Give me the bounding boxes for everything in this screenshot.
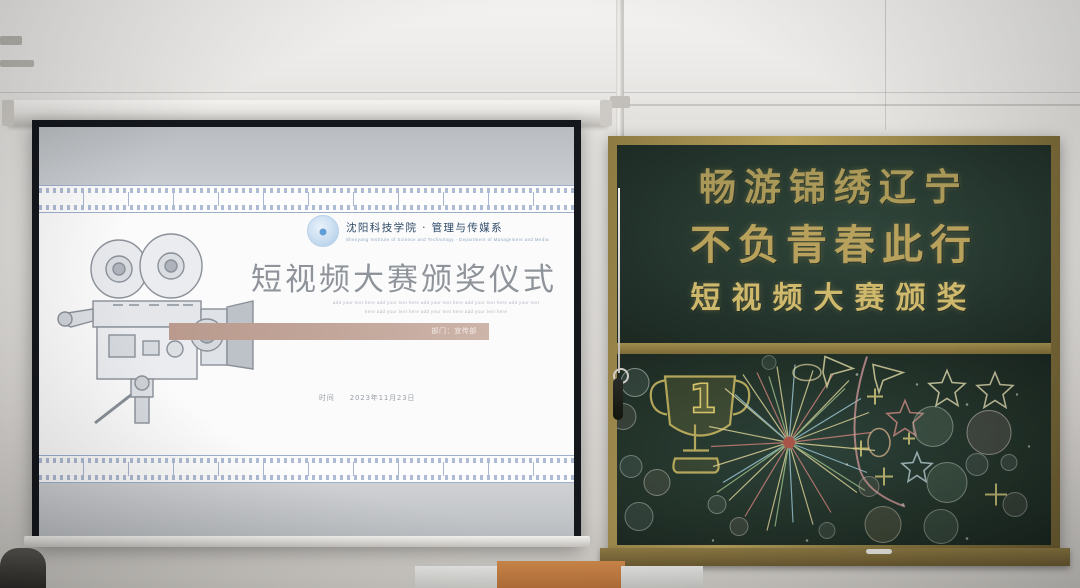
slide-subtitle-line1: add your text here add your text here ad… — [333, 300, 539, 305]
blackboard-lower-panel: 1 — [617, 354, 1051, 545]
date-label: 时间 — [319, 394, 335, 402]
screen-surface: 沈阳科技学院 · 管理与传媒系 Shenyang Institute of Sc… — [39, 127, 574, 537]
chalk-ledge — [600, 548, 1070, 566]
blackboard-line-3: 短视频大赛颁奖 — [617, 273, 1051, 317]
screen-case-end — [2, 100, 14, 126]
star-icon — [929, 371, 965, 406]
slide-subtitle: add your text here add your text here ad… — [317, 299, 555, 316]
slide-bottom-band — [39, 483, 574, 537]
blackboard-line-2: 不负青春此行 — [617, 211, 1051, 271]
blackboard: 畅游锦绣辽宁 不负青春此行 短视频大赛颁奖 1 — [608, 136, 1060, 554]
foreground-paper-right — [621, 566, 703, 588]
film-perforations — [39, 205, 574, 210]
projection-screen[interactable]: 沈阳科技学院 · 管理与传媒系 Shenyang Institute of Sc… — [32, 120, 581, 544]
school-emblem-icon — [307, 215, 339, 247]
logo-text-en: Shenyang Institute of Science and Techno… — [346, 237, 549, 242]
presentation-slide: 沈阳科技学院 · 管理与传媒系 Shenyang Institute of Sc… — [39, 127, 574, 537]
chalk-piece[interactable] — [866, 549, 892, 554]
paper-plane-icon — [873, 365, 903, 393]
ceiling-bracket — [0, 60, 34, 67]
blackboard-surface: 畅游锦绣辽宁 不负青春此行 短视频大赛颁奖 1 — [617, 145, 1051, 545]
blackboard-upper-panel: 畅游锦绣辽宁 不负青春此行 短视频大赛颁奖 — [617, 145, 1051, 343]
ring-shape — [868, 429, 890, 457]
logo-text-cn: 沈阳科技学院 · 管理与传媒系 — [346, 220, 549, 235]
ceiling-bracket — [0, 36, 22, 45]
foreground-paper-left — [415, 566, 501, 588]
date-value: 2023年11月23日 — [350, 394, 415, 402]
film-perforations — [39, 475, 574, 480]
classroom-scene: 沈阳科技学院 · 管理与传媒系 Shenyang Institute of Sc… — [0, 0, 1080, 588]
slide-subtitle-line2: here add your text here add your text he… — [365, 309, 507, 314]
screen-weight-bar — [24, 536, 590, 547]
film-strip-top — [39, 185, 574, 213]
pull-cord-handle[interactable] — [613, 378, 623, 420]
chalk-artwork: 1 — [617, 354, 1051, 545]
blackboard-line-1: 畅游锦绣辽宁 — [617, 157, 1051, 211]
department-bar: 部门：宣传部 — [169, 323, 489, 340]
sparkle-icon — [867, 389, 883, 405]
school-logo: 沈阳科技学院 · 管理与传媒系 Shenyang Institute of Sc… — [307, 215, 549, 247]
wall-seam — [623, 104, 1080, 106]
foreground-dark-object — [0, 548, 46, 588]
slide-date: 时间 2023年11月23日 — [319, 393, 415, 403]
screen-pull-cord[interactable] — [618, 188, 620, 373]
star-icon — [977, 373, 1013, 408]
wooden-podium — [497, 561, 625, 588]
blackboard-divider — [617, 343, 1051, 354]
trophy-number: 1 — [689, 377, 717, 423]
film-frame-dividers — [39, 462, 574, 476]
slide-top-band — [39, 127, 574, 185]
wall-seam — [885, 0, 886, 130]
film-frame-dividers — [39, 192, 574, 206]
screen-case-end — [600, 100, 612, 126]
wall-seam — [0, 92, 1080, 93]
slide-title: 短视频大赛颁奖仪式 — [251, 254, 557, 299]
pipe-clamp — [610, 96, 630, 108]
film-strip-bottom — [39, 455, 574, 483]
department-label: 部门：宣传部 — [431, 326, 477, 336]
ring-shape — [793, 365, 821, 381]
